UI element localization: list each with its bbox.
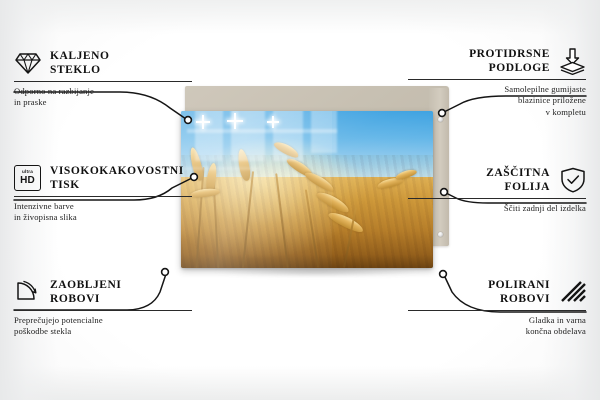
infographic-canvas: KALJENOSTEKLO Odporno na razbijanje in p…: [0, 0, 600, 400]
window-reflection-pane: [195, 111, 223, 161]
window-reflection-pane: [187, 129, 337, 133]
feature-divider: [14, 310, 192, 311]
feature-header: PROTIDRSNEPODLOGE: [404, 46, 586, 76]
feature-description: Odporno na razbijanje in praske: [14, 86, 196, 109]
ultra-hd-icon: ultra HD: [14, 165, 41, 192]
feature-title: ZAŠČITNAFOLIJA: [486, 166, 550, 194]
window-reflection-pane: [273, 111, 303, 161]
diamond-icon: [14, 50, 41, 77]
feature-tempered-glass: KALJENOSTEKLO Odporno na razbijanje in p…: [14, 48, 196, 109]
feature-description: Preprečujejo potencialne poškodbe stekla: [14, 315, 196, 338]
feature-divider: [14, 81, 192, 82]
feature-rounded-edges: ZAOBLJENIROBOVI Preprečujejo potencialne…: [14, 277, 196, 338]
feature-divider: [408, 79, 586, 80]
feature-description: Intenzivne barve in živopisna slika: [14, 201, 196, 224]
feature-anti-slip-pads: PROTIDRSNEPODLOGE Samolepilne gumijaste …: [404, 46, 586, 118]
feature-title: PROTIDRSNEPODLOGE: [469, 47, 550, 75]
ultra-hd-icon-main-label: HD: [20, 176, 35, 186]
shield-check-icon: [559, 167, 586, 194]
background-vignette-top: [0, 0, 600, 34]
feature-title: KALJENOSTEKLO: [50, 49, 109, 77]
feature-description: Ščiti zadnji del izdelka: [404, 203, 586, 214]
rounded-corner-icon: [14, 279, 41, 306]
window-reflection-pane: [231, 111, 265, 161]
feature-hq-print: ultra HD VISOKOKAKOVOSTNITISK Intenzivne…: [14, 163, 196, 224]
feature-description: Samolepilne gumijaste blazinice priložen…: [404, 84, 586, 118]
feature-polished-edges: POLIRANIROBOVI Gladka in varna končna ob…: [404, 277, 586, 338]
pad-stack-download-icon: [559, 48, 586, 75]
feature-header: ZAOBLJENIROBOVI: [14, 277, 196, 307]
feature-title: ZAOBLJENIROBOVI: [50, 278, 121, 306]
mounting-screw-cap-bottom: [438, 232, 443, 237]
connector-endpoint-rounded-edges: [162, 269, 169, 276]
printed-glass-panel: [181, 111, 433, 268]
feature-header: ZAŠČITNAFOLIJA: [404, 165, 586, 195]
diagonal-stripes-icon: [559, 279, 586, 306]
feature-divider: [408, 198, 586, 199]
feature-divider: [14, 196, 192, 197]
feature-protective-film: ZAŠČITNAFOLIJA Ščiti zadnji del izdelka: [404, 165, 586, 214]
feature-description: Gladka in varna končna obdelava: [404, 315, 586, 338]
feature-title: POLIRANIROBOVI: [488, 278, 550, 306]
background-vignette-bottom: [0, 366, 600, 400]
feature-title: VISOKOKAKOVOSTNITISK: [50, 164, 184, 192]
feature-header: POLIRANIROBOVI: [404, 277, 586, 307]
feature-header: ultra HD VISOKOKAKOVOSTNITISK: [14, 163, 196, 193]
feature-divider: [408, 310, 586, 311]
feature-header: KALJENOSTEKLO: [14, 48, 196, 78]
